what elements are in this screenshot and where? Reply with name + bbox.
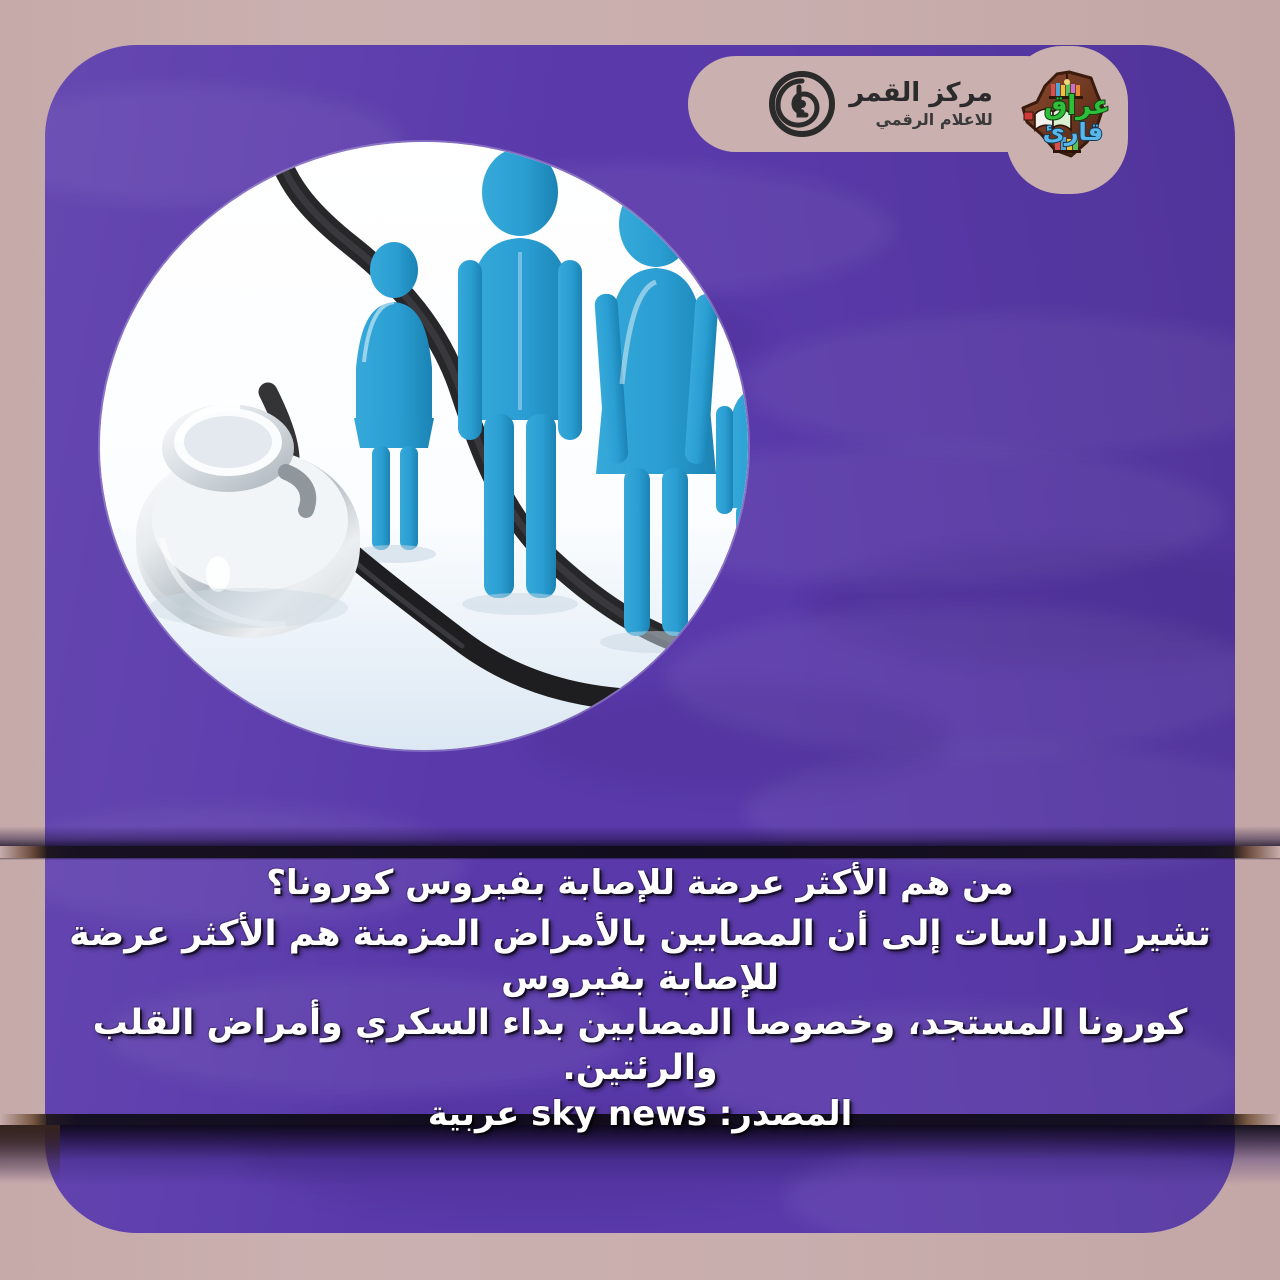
caption-body-line-1: تشير الدراسات إلى أن المصابين بالأمراض ا… bbox=[60, 912, 1220, 1002]
caption-source: المصدر: sky news عربية bbox=[60, 1093, 1220, 1137]
caption-block: من هم الأكثر عرضة للإصابة بفيروس كورونا؟… bbox=[60, 862, 1220, 1136]
top-separator-band bbox=[0, 846, 1280, 858]
bottom-band-left-edge bbox=[0, 1114, 46, 1125]
top-band-right-edge bbox=[1234, 846, 1280, 858]
secondary-logo-badge[interactable]: عراق قارئ bbox=[1006, 46, 1128, 194]
poster-root: مركز القمر للاعلام الرقمي bbox=[0, 0, 1280, 1280]
primary-logo-subtitle: للاعلام الرقمي bbox=[875, 112, 992, 128]
iraq-map-books-icon: عراق قارئ bbox=[1011, 64, 1123, 176]
bottom-band-left-fade bbox=[0, 1125, 60, 1181]
top-band-left-edge bbox=[0, 846, 46, 858]
svg-text:قارئ: قارئ bbox=[1043, 118, 1104, 146]
bottom-band-right-edge bbox=[1234, 1114, 1280, 1125]
svg-text:عراق: عراق bbox=[1044, 91, 1110, 121]
hero-photo bbox=[100, 142, 748, 750]
caption-body-line-2: كورونا المستجد، وخصوصا المصابين بداء الس… bbox=[60, 1001, 1220, 1091]
swirl-circle-icon bbox=[769, 71, 835, 137]
primary-logo-text: مركز القمر للاعلام الرقمي bbox=[849, 80, 993, 128]
caption-question: من هم الأكثر عرضة للإصابة بفيروس كورونا؟ bbox=[60, 862, 1220, 906]
primary-logo-title: مركز القمر bbox=[849, 80, 993, 106]
